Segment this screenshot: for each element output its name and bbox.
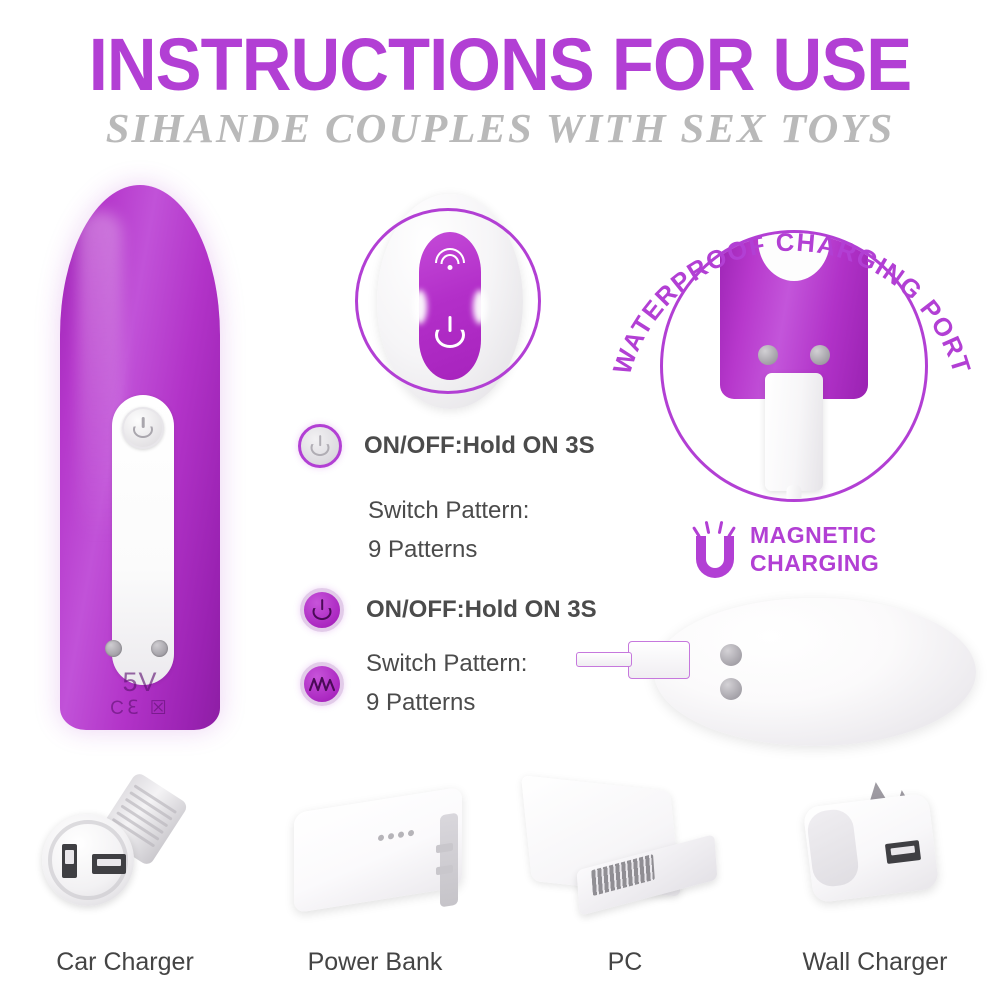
instruction-row-switch-2: Switch Pattern: 9 Patterns	[300, 645, 527, 723]
instruction-label-switch-2-line2: 9 Patterns	[366, 684, 527, 723]
usb-port	[885, 840, 921, 864]
waterproof-arc-text: WATERPROOF CHARGING PORT	[612, 178, 972, 508]
waterproof-arc-label: WATERPROOF CHARGING PORT	[608, 229, 975, 378]
laptop-pc-icon	[500, 770, 750, 920]
magnetic-charging-line2: CHARGING	[750, 549, 879, 577]
egg-magnetic-contacts	[720, 644, 742, 700]
instruction-label-switch-2-line1: Switch Pattern:	[366, 645, 527, 684]
charging-source-label-wall-charger: Wall Charger	[750, 948, 1000, 977]
waterproof-charging-port-section: WATERPROOF CHARGING PORT	[612, 178, 972, 508]
charging-source-power-bank: Power Bank	[250, 770, 500, 985]
wall-charger-icon	[750, 770, 1000, 920]
charging-source-car-charger: Car Charger	[0, 770, 250, 985]
device-voltage-mark: 5V	[60, 667, 220, 698]
magnetic-charging-cable-icon	[628, 641, 690, 679]
page-subtitle: SIHANDE COUPLES WITH SEX TOYS	[0, 108, 1000, 149]
usb-port-a	[62, 844, 77, 878]
charging-source-label-pc: PC	[500, 948, 750, 977]
instruction-label-onoff-1: ON/OFF:Hold ON 3S	[364, 432, 595, 460]
remote-circle-frame	[355, 208, 541, 394]
page-title: INSTRUCTIONS FOR USE	[35, 28, 965, 102]
instruction-block-switch-1: Switch Pattern: 9 Patterns	[368, 492, 529, 570]
infographic-canvas: INSTRUCTIONS FOR USE SIHANDE COUPLES WIT…	[0, 0, 1000, 1000]
power-icon	[298, 424, 342, 468]
charging-sources-row: Car Charger Power Bank PC	[0, 770, 1000, 985]
charging-source-label-power-bank: Power Bank	[250, 948, 500, 977]
power-icon	[300, 588, 344, 632]
main-device-illustration: 5V Cℇ ☒	[60, 185, 220, 730]
charging-source-label-car-charger: Car Charger	[0, 948, 250, 977]
usb-port-b	[92, 854, 126, 874]
magnetic-charging-badge: MAGNETIC CHARGING	[692, 508, 942, 590]
instruction-label-switch-1-line2: 9 Patterns	[368, 531, 529, 570]
horseshoe-magnet-icon	[692, 520, 738, 578]
magnetic-charging-text: MAGNETIC CHARGING	[750, 521, 879, 577]
instruction-label-switch-1-line1: Switch Pattern:	[368, 492, 529, 531]
instruction-row-onoff-2: ON/OFF:Hold ON 3S	[300, 588, 597, 632]
egg-cable	[576, 652, 632, 667]
wave-pattern-glyph	[309, 676, 335, 692]
instruction-label-onoff-2: ON/OFF:Hold ON 3S	[366, 596, 597, 624]
device-magnetic-contacts	[105, 640, 175, 658]
egg-body	[654, 598, 976, 746]
remote-illustration	[355, 208, 545, 400]
power-bank-icon	[250, 770, 500, 920]
instruction-block-switch-2: Switch Pattern: 9 Patterns	[366, 645, 527, 723]
egg-device-illustration	[572, 592, 982, 752]
device-power-button-icon	[122, 407, 164, 449]
device-certification-mark: Cℇ ☒	[60, 697, 220, 720]
charging-source-wall-charger: Wall Charger	[750, 770, 1000, 985]
instruction-row-onoff-1: ON/OFF:Hold ON 3S	[298, 424, 595, 468]
car-charger-icon	[0, 770, 250, 920]
magnetic-charging-line1: MAGNETIC	[750, 521, 879, 549]
wave-pattern-icon	[300, 662, 344, 706]
charging-source-pc: PC	[500, 770, 750, 985]
